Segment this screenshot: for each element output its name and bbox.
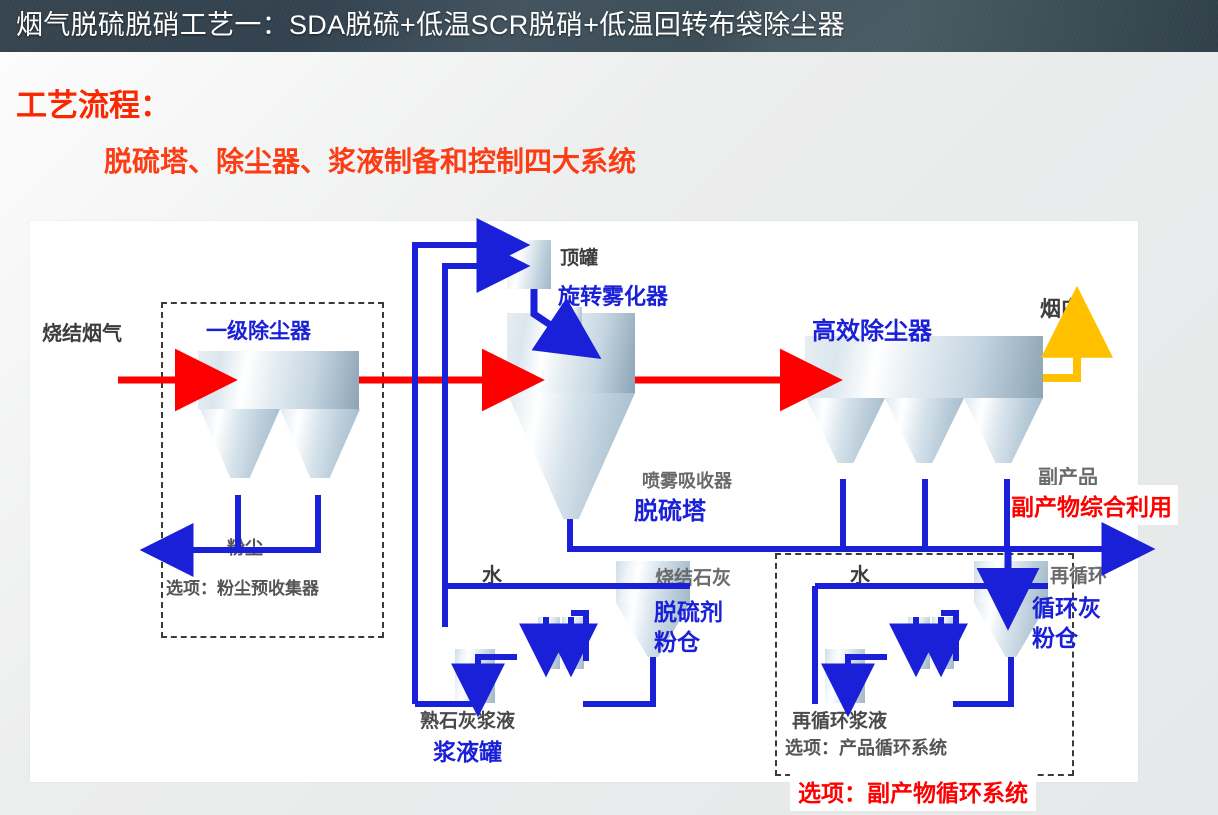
label-desulfurizer-silo-line2: 粉仓 <box>654 623 700 657</box>
label-option-byproduct-recycle: 选项：副产物循环系统 <box>790 771 1036 811</box>
hec-hopper-3 <box>964 398 1043 463</box>
dust-drain-header <box>174 547 321 553</box>
label-quick-lime: 烧结石灰 <box>655 563 731 590</box>
primary-collector-body <box>198 351 359 410</box>
label-by-product-utilization: 副产物综合利用 <box>1005 485 1178 525</box>
label-option-product-recycle: 选项：产品循环系统 <box>785 734 947 760</box>
label-recycle-slurry: 再循环浆液 <box>792 706 887 733</box>
label-high-efficiency-collector: 高效除尘器 <box>812 311 932 346</box>
slurry-tank-vessel <box>455 649 495 703</box>
label-water-left: 水 <box>482 559 502 588</box>
hec-drain-pipe-3 <box>1004 479 1010 549</box>
dust-drain-pipe-left <box>235 495 241 553</box>
atomizer-dot <box>571 347 578 353</box>
label-slaked-lime-slurry: 熟石灰浆液 <box>420 706 515 733</box>
recycle-mixer-vessel-right <box>932 617 954 669</box>
label-inlet-gas: 烧结烟气 <box>42 317 122 346</box>
label-primary-dust-collector: 一级除尘器 <box>206 315 311 345</box>
hec-hopper-2 <box>885 398 964 463</box>
section-title: 工艺流程： <box>16 80 171 125</box>
label-option-pre-collector: 选项：粉尘预收集器 <box>166 574 319 599</box>
recycle-mixer-vessel-left <box>908 617 930 669</box>
atomizer-nozzle <box>567 307 582 331</box>
label-desulfurizer-silo-line1: 脱硫剂 <box>654 593 723 627</box>
lime-mixer-vessel-left <box>538 617 560 669</box>
label-top-tank: 顶罐 <box>560 243 598 270</box>
label-water-right: 水 <box>850 559 870 588</box>
clean-gas-to-chimney <box>1043 329 1077 378</box>
hec-drain-pipe-1 <box>840 479 846 549</box>
hec-drain-pipe-2 <box>922 479 928 549</box>
label-recycle-ash-silo-line1: 循环灰 <box>1032 589 1101 623</box>
desulfurization-tower-cone <box>507 393 635 519</box>
label-slurry-tank: 浆液罐 <box>433 733 502 767</box>
dust-drain-pipe-right <box>315 495 321 553</box>
page-title: 烟气脱硫脱硝工艺一：SDA脱硫+低温SCR脱硝+低温回转布袋除尘器 <box>16 3 845 42</box>
top-tank-vessel <box>507 240 551 289</box>
hec-hopper-1 <box>806 398 885 463</box>
label-chimney: 烟囱 <box>1040 293 1082 323</box>
recycle-slurry-tank-vessel <box>825 649 865 703</box>
label-desulfurization-tower: 脱硫塔 <box>634 491 706 526</box>
slurry-feed-line-outer <box>415 245 498 704</box>
label-spray-absorber: 喷雾吸收器 <box>642 467 732 493</box>
label-recycle-ash-silo-line2: 粉仓 <box>1032 619 1078 653</box>
title-bar: 烟气脱硫脱硝工艺一：SDA脱硫+低温SCR脱硝+低温回转布袋除尘器 <box>0 0 1218 52</box>
lime-mixer-vessel-right <box>562 617 584 669</box>
section-subtitle: 脱硫塔、除尘器、浆液制备和控制四大系统 <box>104 140 636 180</box>
label-recycle: 再循环 <box>1050 561 1107 588</box>
silo-bottom-pipe <box>583 657 653 704</box>
process-flow-diagram: 一级除尘器 粉尘 选项：粉尘预收集器 烧结烟气 顶罐 旋转雾化器 喷雾吸收器 脱… <box>30 221 1138 782</box>
